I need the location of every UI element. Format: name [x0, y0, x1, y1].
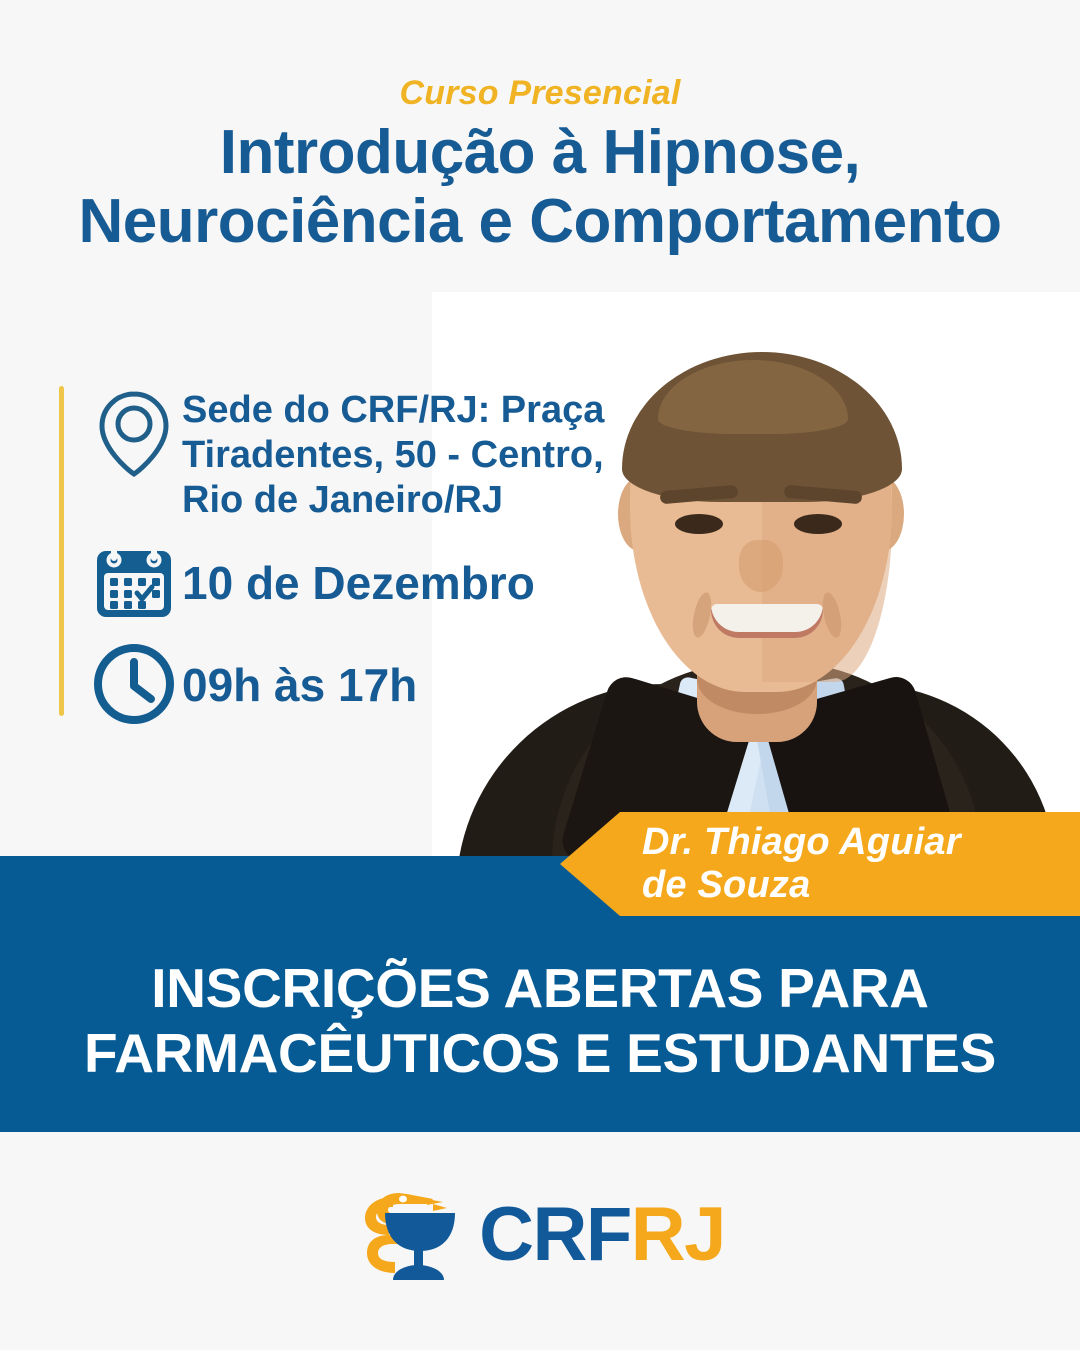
speaker-name: Dr. Thiago Aguiar de Souza [642, 821, 961, 906]
registration-text: INSCRIÇÕES ABERTAS PARA FARMACÊUTICOS E … [84, 956, 996, 1132]
detail-row-time: 09h às 17h [86, 636, 606, 732]
page-title: Introdução à Hipnose, Neurociência e Com… [0, 118, 1080, 257]
calendar-icon [86, 534, 182, 630]
location-line-2: Tiradentes, 50 - Centro, [182, 433, 604, 478]
logo-word-rj: RJ [631, 1192, 725, 1277]
portrait-eye-left [675, 514, 723, 534]
portrait-nose [739, 540, 783, 592]
portrait-eye-right [794, 514, 842, 534]
portrait-mouth [711, 604, 823, 638]
page-title-line-2: Neurociência e Comportamento [0, 187, 1080, 256]
clock-icon [86, 636, 182, 732]
speaker-name-banner: Dr. Thiago Aguiar de Souza [560, 812, 1080, 916]
location-line-3: Rio de Janeiro/RJ [182, 478, 604, 523]
page-title-line-1: Introdução à Hipnose, [0, 118, 1080, 187]
event-poster: Curso Presencial Introdução à Hipnose, N… [0, 0, 1080, 1350]
time-text: 09h às 17h [182, 636, 417, 712]
detail-row-location: Sede do CRF/RJ: Praça Tiradentes, 50 - C… [86, 386, 606, 522]
crf-rj-logo: CRFRJ [0, 1185, 1080, 1285]
location-text: Sede do CRF/RJ: Praça Tiradentes, 50 - C… [182, 386, 604, 522]
location-pin-icon [86, 386, 182, 482]
event-details: Sede do CRF/RJ: Praça Tiradentes, 50 - C… [86, 386, 606, 750]
date-text: 10 de Dezembro [182, 534, 535, 610]
logo-word-crf: CRF [479, 1192, 631, 1277]
speaker-name-line-1: Dr. Thiago Aguiar [642, 821, 961, 864]
registration-line-1: INSCRIÇÕES ABERTAS PARA [84, 956, 996, 1021]
info-accent-rule [59, 386, 64, 716]
registration-line-2: FARMACÊUTICOS E ESTUDANTES [84, 1021, 996, 1086]
detail-row-date: 10 de Dezembro [86, 534, 606, 630]
logo-wordmark: CRFRJ [479, 1197, 725, 1273]
snake-and-chalice-icon [355, 1185, 473, 1285]
course-type-eyebrow: Curso Presencial [0, 74, 1080, 113]
location-line-1: Sede do CRF/RJ: Praça [182, 388, 604, 433]
speaker-name-line-2: de Souza [642, 864, 961, 907]
